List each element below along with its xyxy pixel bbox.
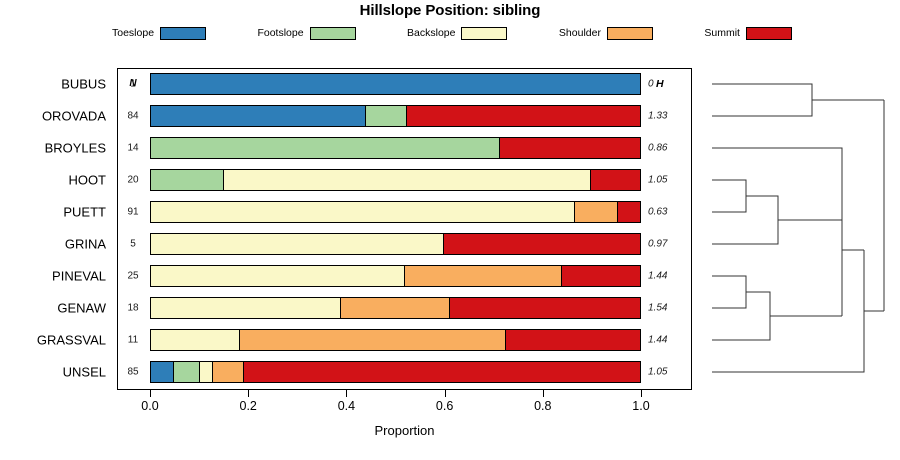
dendro-link-e-unsel — [712, 250, 864, 372]
y-axis-label-genaw: GENAW — [57, 301, 106, 316]
n-value-puett: 91 — [119, 207, 147, 218]
x-tick-mark-2 — [346, 390, 347, 397]
bar-segment-bubus-toeslope — [151, 74, 640, 94]
bar-segment-puett-summit — [618, 202, 640, 222]
h-value-puett: 0.63 — [648, 207, 690, 218]
legend-label-toeslope: Toeslope — [112, 27, 154, 39]
bar-bubus — [150, 73, 641, 95]
x-tick-mark-3 — [445, 390, 446, 397]
dendro-link-c-broyles — [712, 148, 842, 220]
legend-item-toeslope: Toeslope — [112, 27, 206, 40]
legend: Toeslope Footslope Backslope Shoulder Su… — [112, 24, 792, 42]
y-axis-label-bubus: BUBUS — [61, 77, 106, 92]
dendro-link-d-grassval — [712, 292, 770, 340]
bar-segment-hoot-backslope — [224, 170, 591, 190]
bar-orovada — [150, 105, 641, 127]
page-title: Hillslope Position: sibling — [0, 2, 900, 19]
legend-label-shoulder: Shoulder — [559, 27, 601, 39]
y-axis-label-grassval: GRASSVAL — [37, 333, 106, 348]
n-value-orovada: 84 — [119, 111, 147, 122]
bar-segment-orovada-footslope — [366, 106, 407, 126]
x-tick-label-3: 0.6 — [436, 399, 453, 413]
bar-genaw — [150, 297, 641, 319]
x-tick-label-2: 0.4 — [338, 399, 355, 413]
h-value-grina: 0.97 — [648, 239, 690, 250]
h-value-grassval: 1.44 — [648, 335, 690, 346]
y-axis-label-broyles: BROYLES — [45, 141, 106, 156]
legend-swatch-backslope — [461, 27, 507, 40]
legend-item-backslope: Backslope — [407, 27, 507, 40]
x-axis: 0.00.20.40.60.81.0 — [117, 390, 692, 420]
legend-item-shoulder: Shoulder — [559, 27, 653, 40]
y-axis-label-grina: GRINA — [65, 237, 106, 252]
legend-swatch-toeslope — [160, 27, 206, 40]
x-tick-mark-4 — [543, 390, 544, 397]
bar-grassval — [150, 329, 641, 351]
bar-segment-grina-summit — [444, 234, 640, 254]
legend-label-footslope: Footslope — [257, 27, 303, 39]
x-tick-mark-1 — [248, 390, 249, 397]
h-value-hoot: 1.05 — [648, 175, 690, 186]
bar-hoot — [150, 169, 641, 191]
bar-segment-grassval-backslope — [151, 330, 240, 350]
h-value-broyles: 0.86 — [648, 143, 690, 154]
legend-swatch-summit — [746, 27, 792, 40]
y-axis-label-orovada: OROVADA — [42, 109, 106, 124]
x-tick-mark-0 — [150, 390, 151, 397]
h-value-bubus: 0 — [648, 79, 690, 90]
bar-unsel — [150, 361, 641, 383]
bar-segment-broyles-footslope — [151, 138, 500, 158]
x-tick-label-4: 0.8 — [534, 399, 551, 413]
dendrogram-svg — [692, 68, 900, 390]
bar-segment-genaw-summit — [450, 298, 640, 318]
y-axis-label-pineval: PINEVAL — [52, 269, 106, 284]
legend-item-summit: Summit — [704, 27, 792, 40]
bar-segment-unsel-footslope — [174, 362, 200, 382]
bar-segment-broyles-summit — [500, 138, 640, 158]
x-tick-label-1: 0.2 — [239, 399, 256, 413]
bar-segment-grassval-summit — [506, 330, 639, 350]
bar-segment-unsel-toeslope — [151, 362, 174, 382]
x-tick-mark-5 — [641, 390, 642, 397]
y-axis-label-unsel: UNSEL — [63, 365, 106, 380]
bar-segment-grassval-shoulder — [240, 330, 507, 350]
n-value-bubus: 1 — [119, 79, 147, 90]
legend-label-summit: Summit — [704, 27, 740, 39]
legend-swatch-footslope — [310, 27, 356, 40]
dendro-link-b-grina — [712, 196, 778, 244]
legend-swatch-shoulder — [607, 27, 653, 40]
n-value-grassval: 11 — [119, 335, 147, 346]
n-value-broyles: 14 — [119, 143, 147, 154]
bar-segment-grina-backslope — [151, 234, 444, 254]
n-value-unsel: 85 — [119, 367, 147, 378]
bar-segment-genaw-shoulder — [341, 298, 450, 318]
dendro-link-hoot-puett — [712, 180, 746, 212]
bar-puett — [150, 201, 641, 223]
x-axis-title: Proportion — [117, 423, 692, 438]
bar-segment-pineval-backslope — [151, 266, 405, 286]
bar-segment-unsel-backslope — [200, 362, 213, 382]
bar-segment-pineval-shoulder — [405, 266, 561, 286]
y-axis-label-puett: PUETT — [63, 205, 106, 220]
n-value-hoot: 20 — [119, 175, 147, 186]
bar-pineval — [150, 265, 641, 287]
bar-segment-hoot-footslope — [151, 170, 224, 190]
n-value-pineval: 25 — [119, 271, 147, 282]
y-axis-labels: BUBUSOROVADABROYLESHOOTPUETTGRINAPINEVAL… — [0, 68, 112, 390]
h-value-unsel: 1.05 — [648, 367, 690, 378]
x-tick-label-0: 0.0 — [141, 399, 158, 413]
bar-segment-unsel-summit — [244, 362, 640, 382]
legend-item-footslope: Footslope — [257, 27, 355, 40]
bar-segment-hoot-summit — [591, 170, 640, 190]
dendro-link-pineval-genaw — [712, 276, 746, 308]
bar-segment-orovada-summit — [407, 106, 640, 126]
bar-grina — [150, 233, 641, 255]
legend-label-backslope: Backslope — [407, 27, 455, 39]
bar-segment-orovada-toeslope — [151, 106, 366, 126]
x-tick-label-5: 1.0 — [632, 399, 649, 413]
n-value-genaw: 18 — [119, 303, 147, 314]
dendro-link-bubus-orovada — [712, 84, 812, 116]
n-value-grina: 5 — [119, 239, 147, 250]
y-axis-label-hoot: HOOT — [68, 173, 106, 188]
h-value-orovada: 1.33 — [648, 111, 690, 122]
bar-segment-puett-shoulder — [575, 202, 618, 222]
bar-segment-unsel-shoulder — [213, 362, 244, 382]
h-value-genaw: 1.54 — [648, 303, 690, 314]
bar-broyles — [150, 137, 641, 159]
bar-segment-pineval-summit — [562, 266, 640, 286]
dendrogram — [692, 68, 900, 390]
bar-segment-genaw-backslope — [151, 298, 341, 318]
h-value-pineval: 1.44 — [648, 271, 690, 282]
bar-segment-puett-backslope — [151, 202, 575, 222]
